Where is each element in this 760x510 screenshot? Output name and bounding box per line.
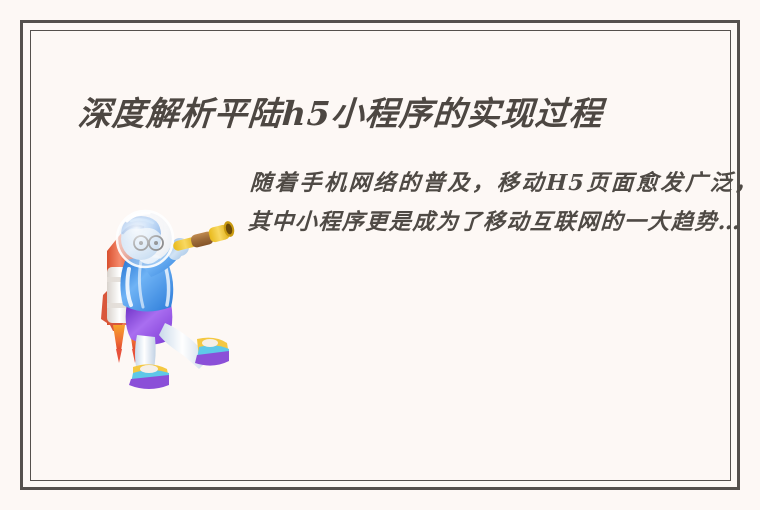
page-title: 深度解析平陆h5小程序的实现过程 bbox=[76, 92, 719, 136]
astronaut-rocket-illustration bbox=[79, 199, 239, 394]
telescope-shape bbox=[172, 220, 236, 252]
card-inner-border: 深度解析平陆h5小程序的实现过程 bbox=[30, 30, 731, 481]
astronaut-rocket-icon bbox=[79, 199, 239, 394]
sneaker-right bbox=[195, 338, 229, 366]
article-card-page: 深度解析平陆h5小程序的实现过程 bbox=[0, 0, 760, 510]
sneaker-left bbox=[129, 364, 169, 389]
article-excerpt: 随着手机网络的普及，移动H5页面愈发广泛，其中小程序更是成为了移动互联网的一大趋… bbox=[247, 164, 759, 242]
